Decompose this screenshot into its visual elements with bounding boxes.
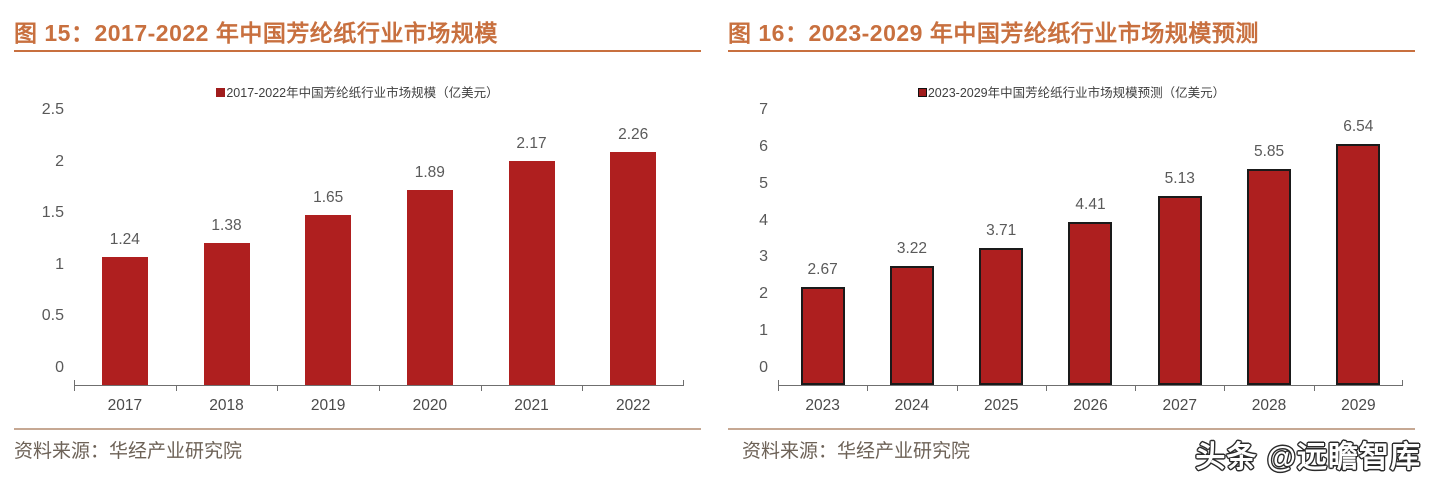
- bar-group[interactable]: 1.652019: [277, 127, 379, 385]
- bar[interactable]: [1158, 196, 1202, 385]
- bar-value-label: 3.71: [986, 222, 1016, 240]
- y-axis-tick-label: 1: [759, 322, 768, 340]
- bar-group[interactable]: 1.242017: [74, 127, 176, 385]
- x-axis-tick-label: 2029: [1341, 397, 1375, 415]
- bar[interactable]: [509, 161, 555, 385]
- bar-value-label: 1.24: [110, 231, 140, 249]
- x-axis-tick-mark: [1046, 385, 1047, 391]
- figure-15-plot-area: 00.511.522.5 1.2420171.3820181.6520191.8…: [74, 128, 684, 386]
- bar-group[interactable]: 1.892020: [379, 127, 481, 385]
- bar[interactable]: [1068, 222, 1112, 385]
- figure-page: 图 15：2017-2022 年中国芳纶纸行业市场规模 2017-2022年中国…: [0, 0, 1429, 478]
- figure-15-footer-rule: [14, 428, 701, 430]
- bar-value-label: 2.67: [808, 261, 838, 279]
- bar-value-label: 4.41: [1075, 196, 1105, 214]
- bar-group[interactable]: 3.712025: [957, 127, 1046, 385]
- bar[interactable]: [890, 266, 934, 385]
- x-axis-tick-mark: [481, 385, 482, 391]
- bar-group[interactable]: 1.382018: [176, 127, 278, 385]
- x-axis-tick-label: 2028: [1252, 397, 1286, 415]
- figure-16-legend: 2023-2029年中国芳纶纸行业市场规模预测（亿美元）: [728, 82, 1415, 101]
- x-axis-line: [778, 385, 1403, 386]
- figure-16-source: 资料来源：华经产业研究院: [742, 436, 970, 463]
- bar[interactable]: [979, 248, 1023, 385]
- figure-15-legend: 2017-2022年中国芳纶纸行业市场规模（亿美元）: [14, 82, 701, 101]
- figure-16-plot-area: 01234567 2.6720233.2220243.7120254.41202…: [778, 128, 1403, 386]
- x-axis-tick-label: 2021: [514, 397, 548, 415]
- figure-16-footer-rule: [728, 428, 1415, 430]
- y-axis-tick-label: 2.5: [42, 101, 64, 119]
- figure-15-panel: 图 15：2017-2022 年中国芳纶纸行业市场规模 2017-2022年中国…: [14, 0, 715, 478]
- figure-15-legend-label: 2017-2022年中国芳纶纸行业市场规模（亿美元）: [226, 86, 498, 100]
- x-axis-tick-label: 2020: [413, 397, 447, 415]
- bar-value-label: 1.38: [211, 217, 241, 235]
- y-axis-tick-label: 2: [55, 153, 64, 171]
- y-axis-tick-label: 1.5: [42, 204, 64, 222]
- x-axis-tick-label: 2026: [1073, 397, 1107, 415]
- figure-16-title-rule: [728, 50, 1415, 52]
- x-axis-tick-mark: [1314, 385, 1315, 391]
- x-axis-tick-label: 2019: [311, 397, 345, 415]
- bar-value-label: 1.65: [313, 189, 343, 207]
- y-axis-tick-label: 6: [759, 138, 768, 156]
- bar-value-label: 2.26: [618, 126, 648, 144]
- bar-group[interactable]: 6.542029: [1314, 127, 1403, 385]
- y-axis-tick-label: 1: [55, 256, 64, 274]
- bar-group[interactable]: 2.262022: [582, 127, 684, 385]
- bar-group[interactable]: 3.222024: [867, 127, 956, 385]
- x-axis-tick-mark: [1224, 385, 1225, 391]
- x-axis-tick-label: 2024: [895, 397, 929, 415]
- bar-value-label: 1.89: [415, 164, 445, 182]
- bar-value-label: 5.85: [1254, 143, 1284, 161]
- x-axis-tick-mark: [867, 385, 868, 391]
- x-axis-tick-label: 2023: [805, 397, 839, 415]
- x-axis-tick-label: 2018: [209, 397, 243, 415]
- bar[interactable]: [1247, 169, 1291, 385]
- bar-value-label: 2.17: [516, 135, 546, 153]
- x-axis-tick-label: 2022: [616, 397, 650, 415]
- figure-16-legend-label: 2023-2029年中国芳纶纸行业市场规模预测（亿美元）: [928, 86, 1225, 100]
- bar[interactable]: [407, 190, 453, 385]
- bar-group[interactable]: 5.132027: [1135, 127, 1224, 385]
- figure-15-source: 资料来源：华经产业研究院: [14, 436, 242, 463]
- bar[interactable]: [305, 215, 351, 385]
- figure-16-panel: 图 16：2023-2029 年中国芳纶纸行业市场规模预测 2023-2029年…: [728, 0, 1429, 478]
- bar[interactable]: [1336, 144, 1380, 385]
- bar-series: 1.2420171.3820181.6520191.8920202.172021…: [74, 127, 684, 385]
- legend-swatch-icon: [918, 88, 927, 97]
- bar[interactable]: [801, 287, 845, 385]
- figure-16-title: 图 16：2023-2029 年中国芳纶纸行业市场规模预测: [728, 14, 1259, 48]
- bar-value-label: 3.22: [897, 240, 927, 258]
- figure-15-title-rule: [14, 50, 701, 52]
- x-axis-tick-mark: [957, 385, 958, 391]
- y-axis-tick-label: 7: [759, 101, 768, 119]
- y-axis-tick-label: 0: [55, 359, 64, 377]
- watermark-logo: 头条 @远瞻智库: [1195, 432, 1421, 476]
- bar-group[interactable]: 5.852028: [1224, 127, 1313, 385]
- y-axis-tick-label: 0: [759, 359, 768, 377]
- legend-swatch-icon: [216, 88, 225, 97]
- bar[interactable]: [204, 243, 250, 385]
- x-axis-tick-mark: [176, 385, 177, 391]
- bar-series: 2.6720233.2220243.7120254.4120265.132027…: [778, 127, 1403, 385]
- y-axis-tick-label: 5: [759, 175, 768, 193]
- bar[interactable]: [102, 257, 148, 385]
- figure-15-title: 图 15：2017-2022 年中国芳纶纸行业市场规模: [14, 14, 498, 48]
- bar-value-label: 6.54: [1343, 118, 1373, 136]
- x-axis-tick-mark: [582, 385, 583, 391]
- x-axis-tick-mark: [778, 385, 779, 391]
- y-axis-tick-label: 4: [759, 212, 768, 230]
- bar-group[interactable]: 4.412026: [1046, 127, 1135, 385]
- x-axis-tick-label: 2017: [108, 397, 142, 415]
- x-axis-tick-label: 2027: [1163, 397, 1197, 415]
- x-axis-tick-label: 2025: [984, 397, 1018, 415]
- bar[interactable]: [610, 152, 656, 385]
- y-axis-tick-label: 3: [759, 248, 768, 266]
- y-axis-tick-label: 0.5: [42, 307, 64, 325]
- bar-value-label: 5.13: [1165, 170, 1195, 188]
- bar-group[interactable]: 2.172021: [481, 127, 583, 385]
- y-axis-tick-label: 2: [759, 285, 768, 303]
- x-axis-tick-mark: [74, 385, 75, 391]
- bar-group[interactable]: 2.672023: [778, 127, 867, 385]
- x-axis-tick-mark: [277, 385, 278, 391]
- x-axis-tick-mark: [379, 385, 380, 391]
- x-axis-tick-mark: [1135, 385, 1136, 391]
